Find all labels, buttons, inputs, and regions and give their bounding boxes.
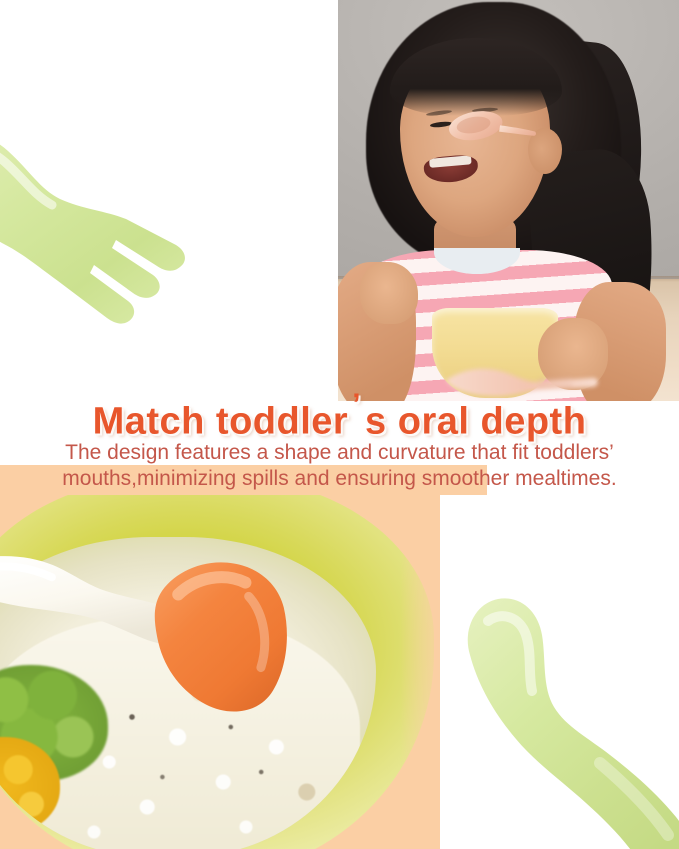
teeth: [429, 155, 472, 168]
subtitle-text: The design features a shape and curvatur…: [0, 440, 679, 492]
food-closeup-photo: [0, 495, 440, 849]
green-spoon-panel: [440, 495, 679, 849]
headline-apostrophe: ’: [348, 388, 365, 421]
product-feature-image: Match toddler’s oral depth The design fe…: [0, 0, 679, 849]
subtitle-line-1: The design features a shape and curvatur…: [65, 441, 614, 464]
headline-part-2: s oral depth: [365, 401, 586, 443]
headline-container: Match toddler’s oral depth: [0, 388, 679, 440]
headline-part-1: Match toddler: [93, 401, 349, 443]
toddler-eating-photo: [338, 0, 679, 401]
green-spoon-icon: [450, 595, 679, 849]
green-fork-icon: [0, 85, 260, 345]
subtitle-line-2: mouths,minimizing spills and ensuring sm…: [28, 466, 651, 492]
green-fork-panel: [0, 0, 339, 400]
page-title: Match toddler’s oral depth: [0, 388, 679, 445]
carrot-chunk: [141, 549, 299, 723]
hand-left: [360, 262, 418, 324]
